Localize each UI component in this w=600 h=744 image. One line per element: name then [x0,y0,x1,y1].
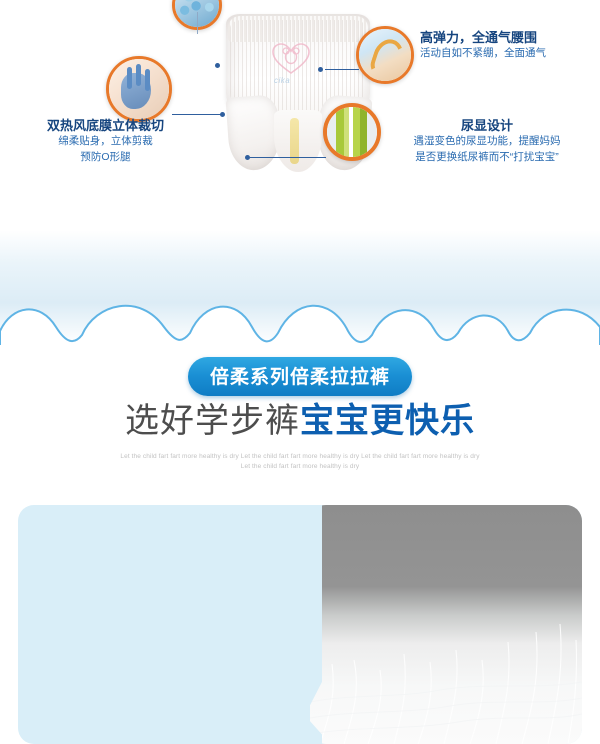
leader-dot-top [215,63,220,68]
page-title-blue: 宝宝更快乐 [300,402,475,440]
leader-line-right-top [325,69,359,70]
leader-dot-urine [245,155,250,160]
leader-line-left [172,114,222,115]
airflow-circle-icon [106,56,172,122]
callout-desc-line-2: 是否更换纸尿裤而不“打扰宝宝” [378,150,596,166]
callout-title: 高弹力，全通气腰围 [420,30,546,46]
subtitle-english-line-2: Let the child fart fart more healthy is … [0,462,600,472]
subtitle-english: Let the child fart fart more healthy is … [0,452,600,473]
leader-line-top [197,12,198,34]
feature-callout-section: cika 双热风底膜立体裁切 绵柔贴身，立体剪裁 预防O形腿 高弹力，全通气腰围… [0,0,600,205]
callout-title: 双热风底膜立体裁切 [18,118,193,134]
leader-dot-left [220,112,225,117]
page-title: 选好学步裤宝宝更快乐 [0,402,600,440]
headline-section: 倍柔系列倍柔拉拉裤 选好学步裤宝宝更快乐 Let the child fart … [0,345,600,495]
scallop-shape [0,287,600,345]
callout-hot-air-film: 双热风底膜立体裁切 绵柔贴身，立体剪裁 预防O形腿 [18,118,193,166]
point-card-section: 01 我柔薄 蓬松棉轻薄透气，呵护宝宝 轻薄无感透气性更好。 [0,495,600,744]
wetness-indicator-circle-icon [323,103,381,161]
leader-line-urine [250,157,326,158]
cloud-scallop-divider [0,205,600,345]
fiber-texture [310,594,582,744]
callout-desc-line-2: 预防O形腿 [18,150,193,166]
product-brand-mark: cika [274,76,290,85]
callout-title: 尿显设计 [378,118,596,134]
page-title-grey: 选好学步裤 [125,402,300,440]
cotton-fiber-photo [310,505,582,744]
elastic-waist-circle-icon [356,26,414,84]
callout-wetness-indicator: 尿显设计 遇湿变色的尿显功能，提醒妈妈 是否更换纸尿裤而不“打扰宝宝” [378,118,596,166]
callout-elastic-waist: 高弹力，全通气腰围 活动自如不紧绷，全面通气 [420,30,546,62]
callout-desc-line-1: 遇湿变色的尿显功能，提醒妈妈 [378,134,596,150]
callout-desc-line-1: 活动自如不紧绷，全面通气 [420,46,546,62]
heart-print-icon [270,42,312,76]
subtitle-english-line-1: Let the child fart fart more healthy is … [0,452,600,462]
leader-dot-right-top [318,67,323,72]
series-pill-badge: 倍柔系列倍柔拉拉裤 [188,357,412,396]
product-detail-page: cika 双热风底膜立体裁切 绵柔贴身，立体剪裁 预防O形腿 高弹力，全通气腰围… [0,0,600,744]
callout-desc-line-1: 绵柔贴身，立体剪裁 [18,134,193,150]
